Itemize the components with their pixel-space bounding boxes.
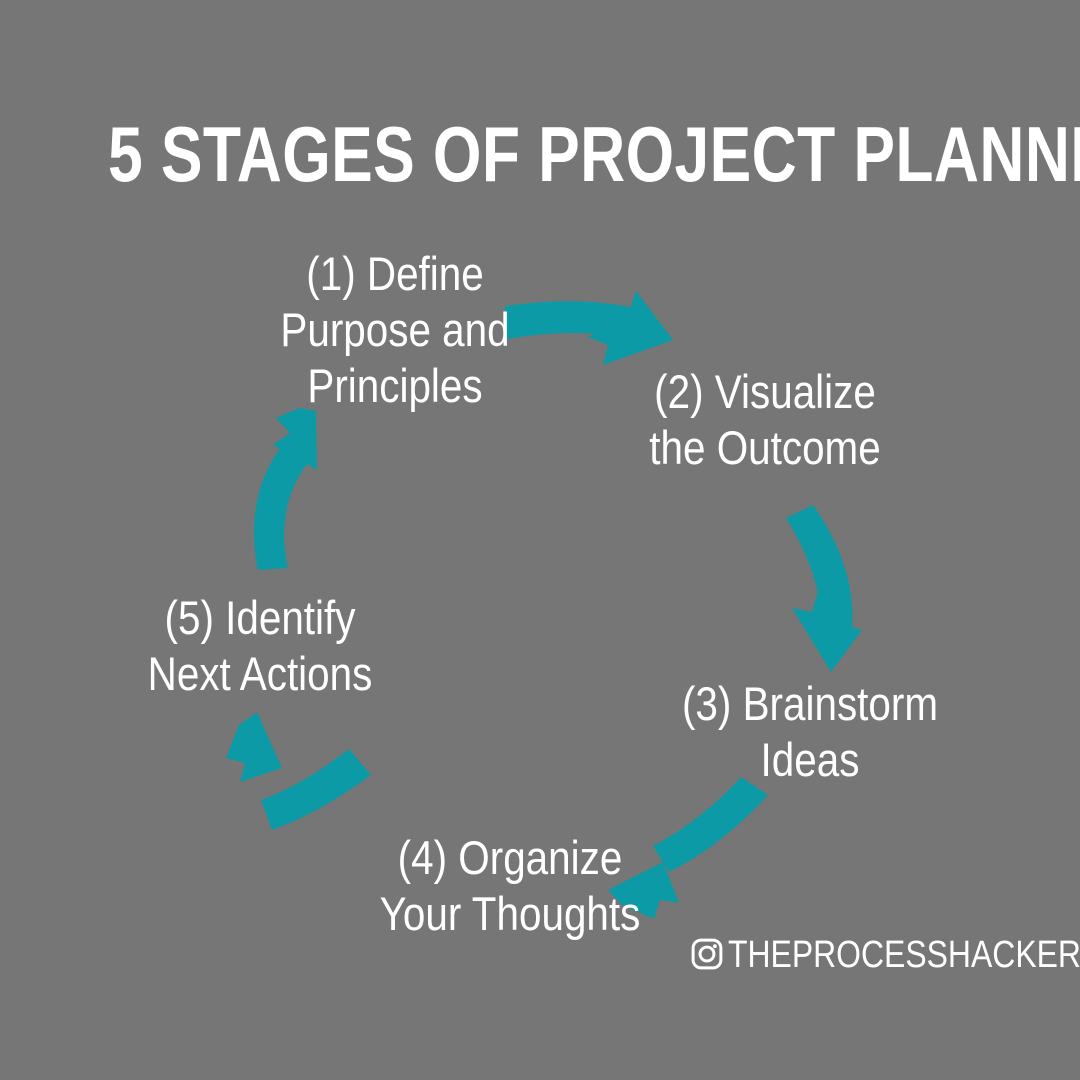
arrow-2-to-3 <box>786 505 862 672</box>
stage-3-line-1: (3) Brainstorm <box>677 676 944 732</box>
arrow-5-to-1 <box>254 408 317 570</box>
stage-3-label: (3) Brainstorm Ideas <box>655 676 965 788</box>
stage-4-line-1: (4) Organize <box>377 830 644 886</box>
stage-2-label: (2) Visualize the Outcome <box>615 364 915 476</box>
stage-5-label: (5) Identify Next Actions <box>110 590 410 702</box>
arrow-4-to-5 <box>226 712 371 830</box>
watermark-handle: THEPROCESSHACKER <box>728 935 1080 975</box>
stage-1-line-2: Purpose and <box>266 302 524 358</box>
stage-3-line-2: Ideas <box>677 732 944 788</box>
stage-4-line-2: Your Thoughts <box>377 886 644 942</box>
watermark: THEPROCESSHACKER <box>690 932 1080 976</box>
stage-1-label: (1) Define Purpose and Principles <box>245 246 545 414</box>
stage-1-line-3: Principles <box>266 358 524 414</box>
poster-canvas: 5 STAGES OF PROJECT PLANNING <box>0 0 1080 1080</box>
stage-5-line-1: (5) Identify <box>131 590 389 646</box>
stage-4-label: (4) Organize Your Thoughts <box>355 830 665 942</box>
stage-1-line-1: (1) Define <box>266 246 524 302</box>
stage-2-line-2: the Outcome <box>636 420 894 476</box>
stage-5-line-2: Next Actions <box>131 646 389 702</box>
stage-2-line-1: (2) Visualize <box>636 364 894 420</box>
instagram-icon <box>690 937 724 971</box>
